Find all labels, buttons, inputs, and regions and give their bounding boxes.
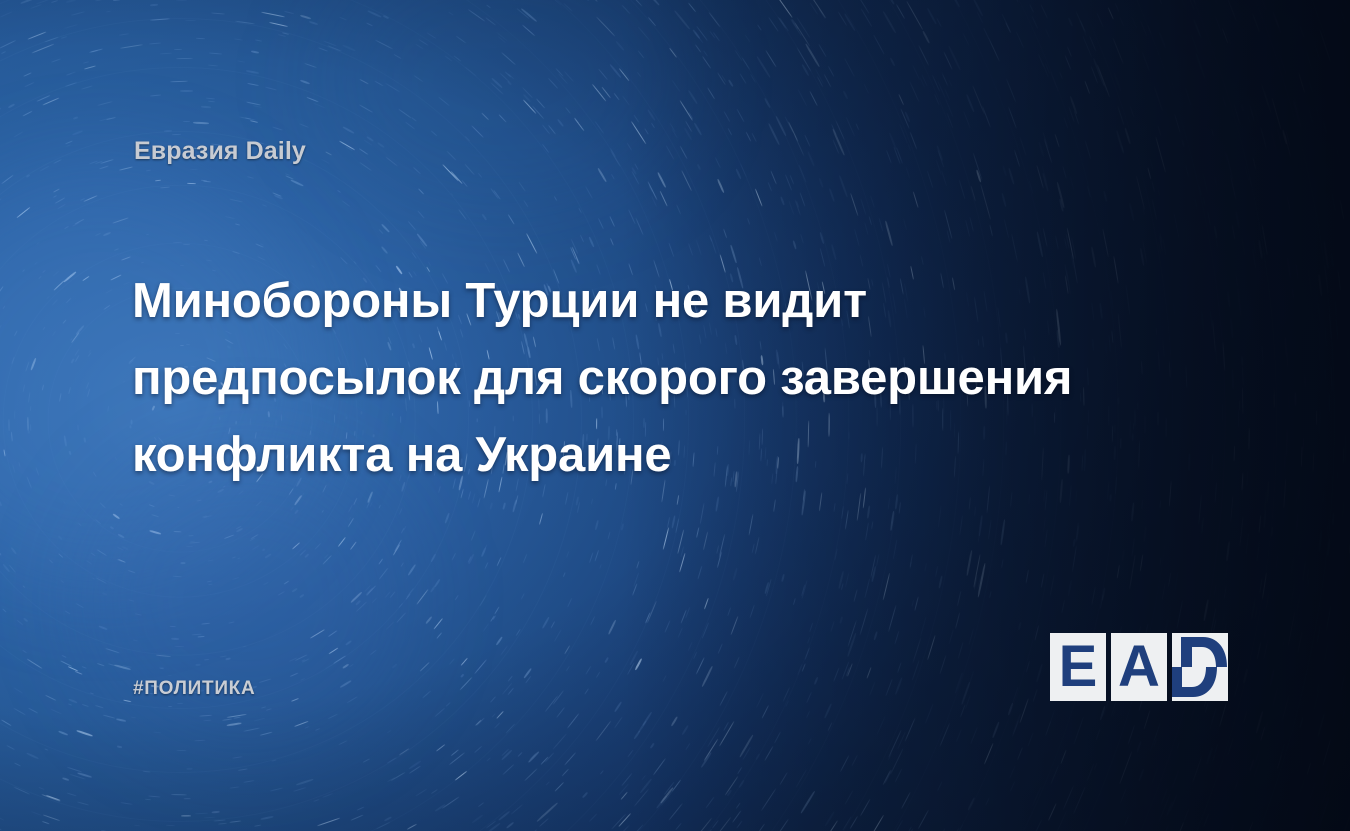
logo-tile-e: E bbox=[1050, 633, 1106, 701]
logo-letter-d-bottom-half bbox=[1172, 667, 1228, 701]
page-title: Минобороны Турции не видит предпосылок д… bbox=[132, 263, 1202, 494]
logo-letter-d-glyph-bottom bbox=[1172, 667, 1217, 697]
logo-letter-e: E bbox=[1050, 633, 1106, 701]
logo-tile-a: A bbox=[1111, 633, 1167, 701]
logo-letter-d-glyph-top bbox=[1181, 637, 1227, 667]
logo-letter-a: A bbox=[1111, 633, 1167, 701]
logo-letter-d-top-half bbox=[1172, 633, 1228, 667]
ead-logo[interactable]: E A bbox=[1050, 633, 1228, 701]
site-name[interactable]: Евразия Daily bbox=[134, 137, 306, 166]
article-share-card: Евразия Daily Минобороны Турции не видит… bbox=[0, 0, 1350, 831]
category-hashtag[interactable]: #ПОЛИТИКА bbox=[133, 678, 255, 700]
logo-tile-d-split bbox=[1172, 633, 1228, 701]
